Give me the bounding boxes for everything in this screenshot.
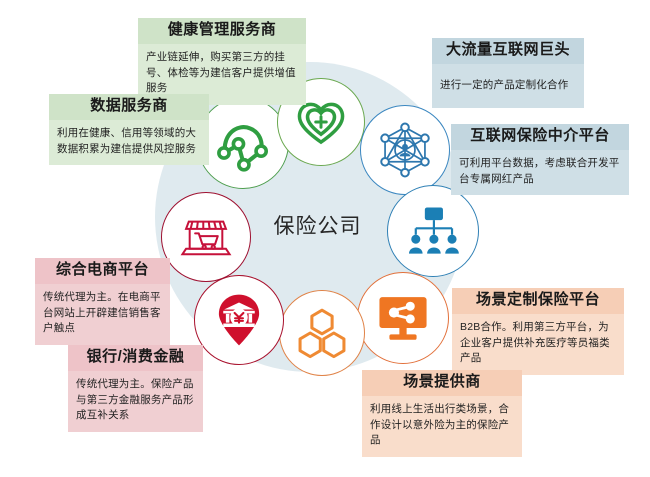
network-person-icon (376, 121, 434, 179)
card-title: 综合电商平台 (35, 258, 170, 284)
center-label: 保险公司 (245, 210, 390, 240)
monitor-share-icon (374, 289, 432, 347)
node-insurance-broker[interactable] (387, 185, 479, 277)
node-scenario-provider[interactable] (279, 290, 365, 376)
shop-laptop-cart-icon (177, 208, 235, 266)
node-bank-consumer[interactable] (194, 275, 284, 365)
card-body: 传统代理为主。保险产品与第三方金融服务产品形成互补关系 (68, 371, 203, 432)
card-title: 大流量互联网巨头 (432, 38, 584, 64)
card-body: 可利用平台数据，考虑联合开发平台专属网红产品 (451, 150, 629, 196)
node-scenario-custom[interactable] (357, 272, 449, 364)
card-title: 互联网保险中介平台 (451, 124, 629, 150)
card-body: 利用线上生活出行类场景，合作设计以意外险为主的保险产品 (362, 396, 522, 457)
card-internet-giant[interactable]: 大流量互联网巨头 进行一定的产品定制化合作 (432, 38, 584, 108)
card-scenario-custom[interactable]: 场景定制保险平台 B2B合作。利用第三方平台，为企业客户提供补充医疗等员福类产品 (452, 288, 624, 375)
infographic-canvas: 保险公司 (0, 0, 650, 477)
honeycomb-icon (295, 306, 349, 360)
card-scenario-provider[interactable]: 场景提供商 利用线上生活出行类场景，合作设计以意外险为主的保险产品 (362, 370, 522, 457)
bank-yuan-pin-icon (211, 292, 267, 348)
card-body: 传统代理为主。在电商平台网站上开辟建信销售客户触点 (35, 284, 170, 345)
card-ecommerce[interactable]: 综合电商平台 传统代理为主。在电商平台网站上开辟建信销售客户触点 (35, 258, 170, 345)
card-title: 场景定制保险平台 (452, 288, 624, 314)
card-title: 数据服务商 (49, 94, 209, 120)
card-body: 进行一定的产品定制化合作 (432, 64, 584, 108)
card-data-service[interactable]: 数据服务商 利用在健康、信用等领域的大数据积累为建信提供风控服务 (49, 94, 209, 165)
card-insurance-broker[interactable]: 互联网保险中介平台 可利用平台数据，考虑联合开发平台专属网红产品 (451, 124, 629, 195)
org-hierarchy-icon (404, 202, 462, 260)
node-internet-giant[interactable] (360, 105, 450, 195)
node-graph-icon (214, 114, 272, 172)
card-title: 健康管理服务商 (138, 18, 306, 44)
card-title: 场景提供商 (362, 370, 522, 396)
card-bank-consumer[interactable]: 银行/消费金融 传统代理为主。保险产品与第三方金融服务产品形成互补关系 (68, 345, 203, 432)
card-health-management[interactable]: 健康管理服务商 产业链延伸，购买第三方的挂号、体检等为建信客户提供增值服务 (138, 18, 306, 105)
node-data-service[interactable] (197, 97, 289, 189)
node-ecommerce[interactable] (161, 192, 251, 282)
card-title: 银行/消费金融 (68, 345, 203, 371)
card-body: 利用在健康、信用等领域的大数据积累为建信提供风控服务 (49, 120, 209, 166)
card-body: B2B合作。利用第三方平台，为企业客户提供补充医疗等员福类产品 (452, 314, 624, 375)
